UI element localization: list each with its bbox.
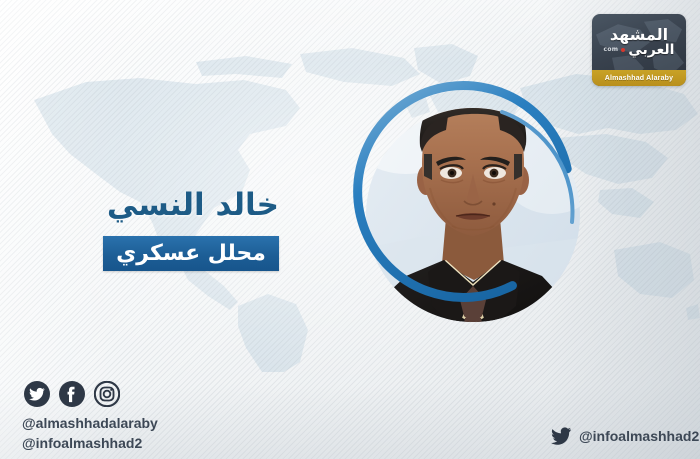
footer-twitter-text: @infoalmashhad2 — [579, 429, 699, 443]
logo-arabic-line-2: العربي — [628, 43, 674, 57]
guest-name: خالد النسي — [107, 190, 279, 221]
logo-wordmark: المشهد العربي com — [592, 14, 686, 70]
guest-card: المشهد العربي com Almashhad Alaraby — [0, 0, 700, 459]
social-handles: @almashhadalaraby @infoalmashhad2 — [22, 413, 158, 454]
guest-portrait — [352, 72, 594, 340]
guest-title-text: محلل عسكري — [116, 243, 266, 265]
logo-arabic-line-1: المشهد — [610, 27, 668, 43]
logo-caption-bar: Almashhad Alaraby — [592, 70, 686, 86]
handle-secondary[interactable]: @infoalmashhad2 — [22, 433, 158, 453]
social-icon-row — [24, 381, 120, 407]
logo-caption-text: Almashhad Alaraby — [605, 75, 674, 82]
twitter-icon[interactable] — [24, 381, 50, 407]
channel-logo[interactable]: المشهد العربي com Almashhad Alaraby — [592, 14, 686, 86]
footer-twitter-handle[interactable]: @infoalmashhad2 — [551, 427, 699, 445]
portrait-ring-decoration — [352, 72, 594, 340]
logo-com-text: com — [604, 47, 619, 53]
instagram-icon[interactable] — [94, 381, 120, 407]
facebook-icon[interactable] — [59, 381, 85, 407]
logo-dot-icon — [621, 48, 625, 52]
handle-primary[interactable]: @almashhadalaraby — [22, 413, 158, 433]
twitter-bird-icon — [551, 427, 572, 445]
world-map-background — [0, 42, 700, 372]
guest-title-badge: محلل عسكري — [103, 236, 279, 271]
